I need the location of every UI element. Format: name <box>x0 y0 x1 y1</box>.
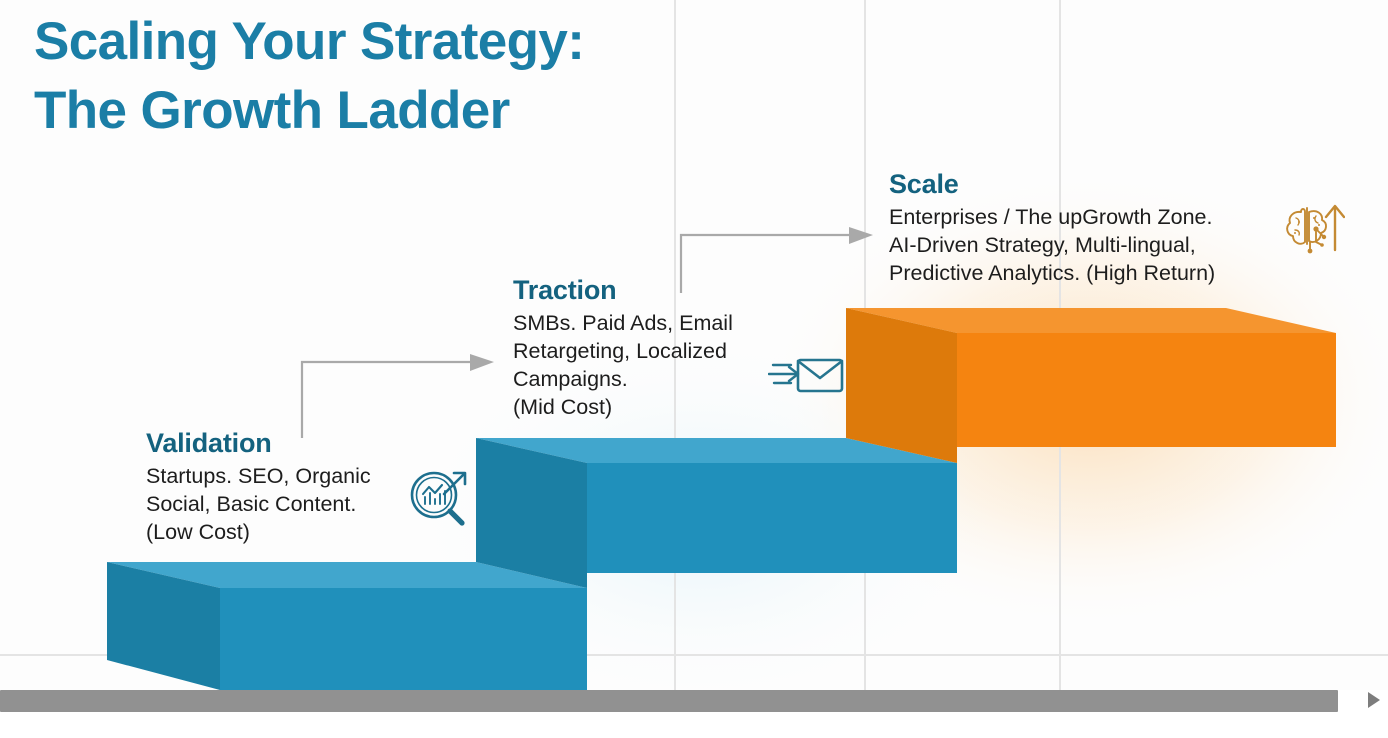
step1-front <box>220 588 587 690</box>
magnifier-chart-icon <box>404 466 476 532</box>
step-text-validation: Validation Startups. SEO, Organic Social… <box>146 428 446 547</box>
brain-ai-arrow-icon <box>1283 196 1345 260</box>
step3-side <box>846 308 957 463</box>
step-block-validation <box>107 562 587 690</box>
slide-stage: Validation Startups. SEO, Organic Social… <box>0 0 1388 738</box>
step-body-scale: Enterprises / The upGrowth Zone. AI-Driv… <box>889 204 1309 288</box>
slide-canvas: Validation Startups. SEO, Organic Social… <box>0 0 1388 690</box>
step-block-traction <box>476 438 957 588</box>
page-title: Scaling Your Strategy: The Growth Ladder <box>34 8 854 146</box>
step-heading-validation: Validation <box>146 428 446 460</box>
step3-front <box>957 333 1336 447</box>
step-block-scale <box>846 308 1336 463</box>
step-heading-scale: Scale <box>889 169 1309 201</box>
step2-front <box>587 463 957 573</box>
scroll-right-arrow-icon[interactable] <box>1368 692 1380 708</box>
step-heading-traction: Traction <box>513 275 813 307</box>
arrow-head-icon <box>470 354 494 371</box>
envelope-send-icon <box>768 348 846 402</box>
step2-side <box>476 438 587 588</box>
step-text-scale: Scale Enterprises / The upGrowth Zone. A… <box>889 169 1309 288</box>
step-body-validation: Startups. SEO, Organic Social, Basic Con… <box>146 463 446 547</box>
scrollbar-thumb[interactable] <box>0 690 1338 712</box>
scrollbar-track[interactable] <box>0 690 1388 712</box>
arrow-head-icon <box>849 227 873 244</box>
horizontal-scrollbar[interactable] <box>0 690 1388 738</box>
